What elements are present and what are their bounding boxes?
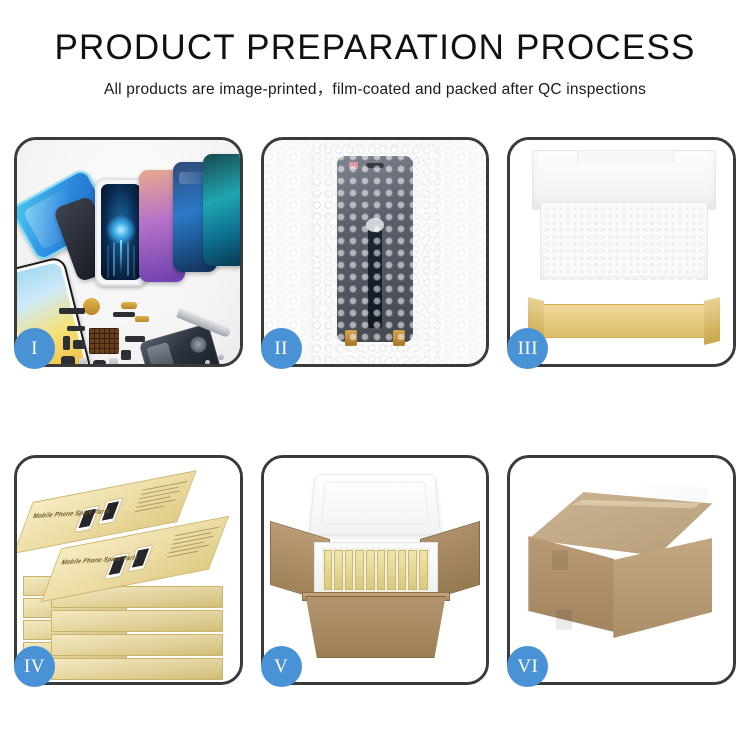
step-badge-5: V <box>261 646 302 687</box>
process-step-6: VI <box>507 455 736 685</box>
carton-handle-tab-bottom <box>556 610 572 630</box>
process-step-2: II <box>261 137 490 367</box>
carton-body <box>306 596 446 658</box>
kraft-box-front <box>536 304 712 338</box>
carton-handle-tab-top <box>552 550 568 570</box>
process-step-4: Mobile Phone Spare Parts Mobile Phone Sp… <box>14 455 243 685</box>
step-1-image <box>17 140 240 364</box>
box-label-text-front: Mobile Phone Spare Parts <box>60 554 140 567</box>
box-stack: Mobile Phone Spare Parts Mobile Phone Sp… <box>17 458 240 682</box>
process-step-5: V <box>261 455 490 685</box>
box-lid <box>532 150 716 210</box>
flex-cable-pad <box>366 218 384 232</box>
white-foam-sheet <box>544 206 704 276</box>
flex-cable <box>368 222 382 328</box>
packed-retail-boxes <box>322 548 430 592</box>
product-preparation-infographic: PRODUCT PREPARATION PROCESS All products… <box>0 0 750 750</box>
connector-left <box>345 330 357 346</box>
step-6-image <box>510 458 733 682</box>
spare-parts-cluster <box>17 140 240 364</box>
carton-right-face <box>613 538 712 638</box>
process-step-1: I <box>14 137 243 367</box>
connector-right <box>393 330 405 346</box>
step-5-image <box>264 458 487 682</box>
component-grid-chip <box>89 328 119 354</box>
step-3-image <box>510 140 733 364</box>
pink-label-sticker <box>349 162 358 169</box>
header: PRODUCT PREPARATION PROCESS All products… <box>0 0 750 99</box>
step-4-image: Mobile Phone Spare Parts Mobile Phone Sp… <box>17 458 240 682</box>
step-badge-1: I <box>14 328 55 369</box>
process-steps-grid: I II <box>14 137 736 685</box>
page-title: PRODUCT PREPARATION PROCESS <box>0 30 750 67</box>
step-2-image <box>264 140 487 364</box>
page-subtitle: All products are image-printed，film-coat… <box>0 77 750 99</box>
foam-lid <box>308 474 441 535</box>
step-badge-2: II <box>261 328 302 369</box>
process-step-3: III <box>507 137 736 367</box>
step-badge-4: IV <box>14 646 55 687</box>
